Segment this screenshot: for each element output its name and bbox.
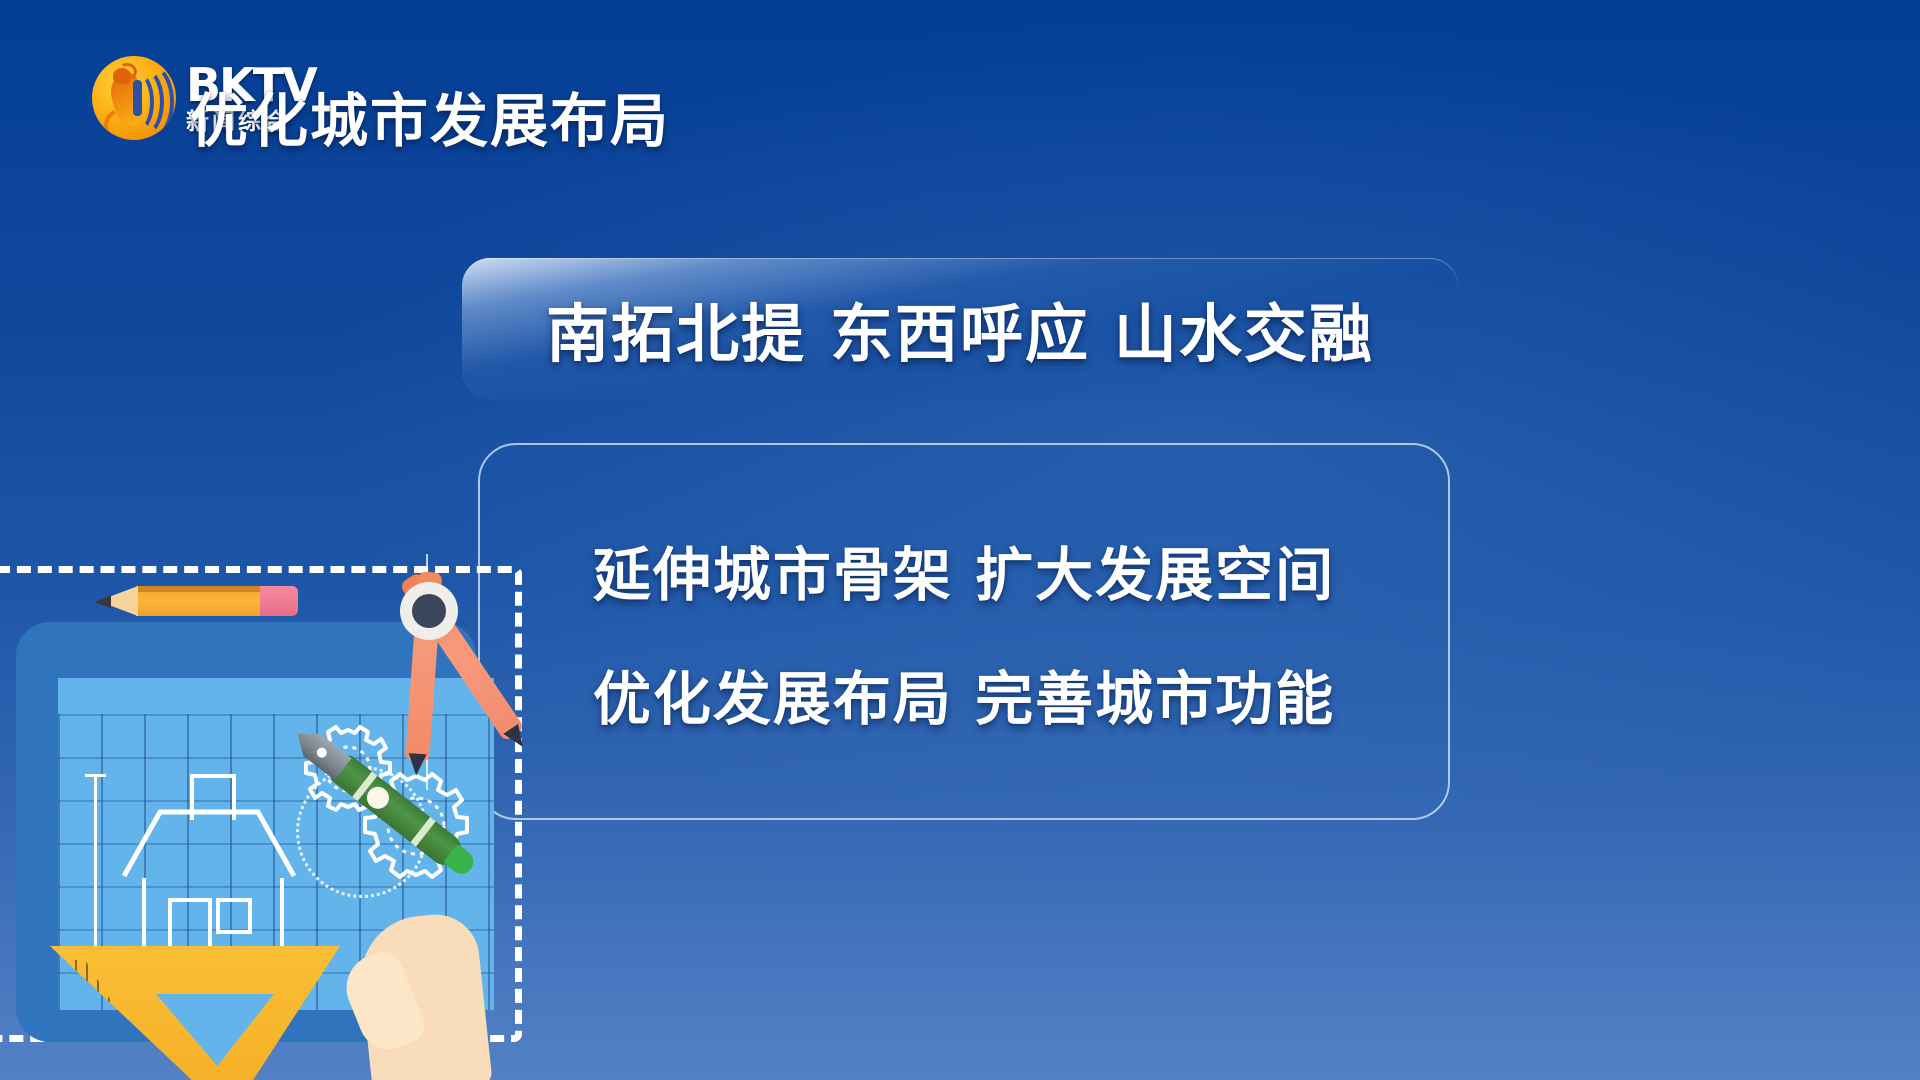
ruler-cutout [156,994,274,1066]
logo-arc-outer [122,62,174,140]
detail-box: 延伸城市骨架 扩大发展空间 优化发展布局 完善城市功能 [478,443,1450,820]
hand-holding-pen [328,862,518,1080]
house-window [216,898,252,934]
pencil-wood [108,586,138,616]
compass-hub [400,582,458,640]
headline-text: 南拓北提 东西呼应 山水交融 [546,284,1374,375]
broadcast-graphic-screen: BKTV 新闻综合 优化城市发展布局 南拓北提 东西呼应 山水交融 延伸城市骨架… [0,0,1920,1080]
compass-nib-right [503,724,530,752]
pencil-icon [94,586,300,616]
house-line-drawing [120,774,298,952]
phoenix-logo-icon [92,56,176,140]
dimension-marker-vertical [94,774,97,950]
house-roof [120,806,298,880]
detail-line-2: 优化发展布局 完善城市功能 [593,652,1335,736]
house-walls [142,878,284,956]
headline-box: 南拓北提 东西呼应 山水交融 [462,258,1458,400]
compass-nib-left [407,753,426,776]
pencil-graphite-tip [94,595,111,608]
pencil-band [136,586,260,592]
pencil-eraser [260,586,298,616]
detail-line-1: 延伸城市骨架 扩大发展空间 [593,528,1335,612]
urban-planning-blueprint-illustration [0,560,596,1080]
page-title: 优化城市发展布局 [190,74,670,158]
compass-icon [364,564,524,784]
